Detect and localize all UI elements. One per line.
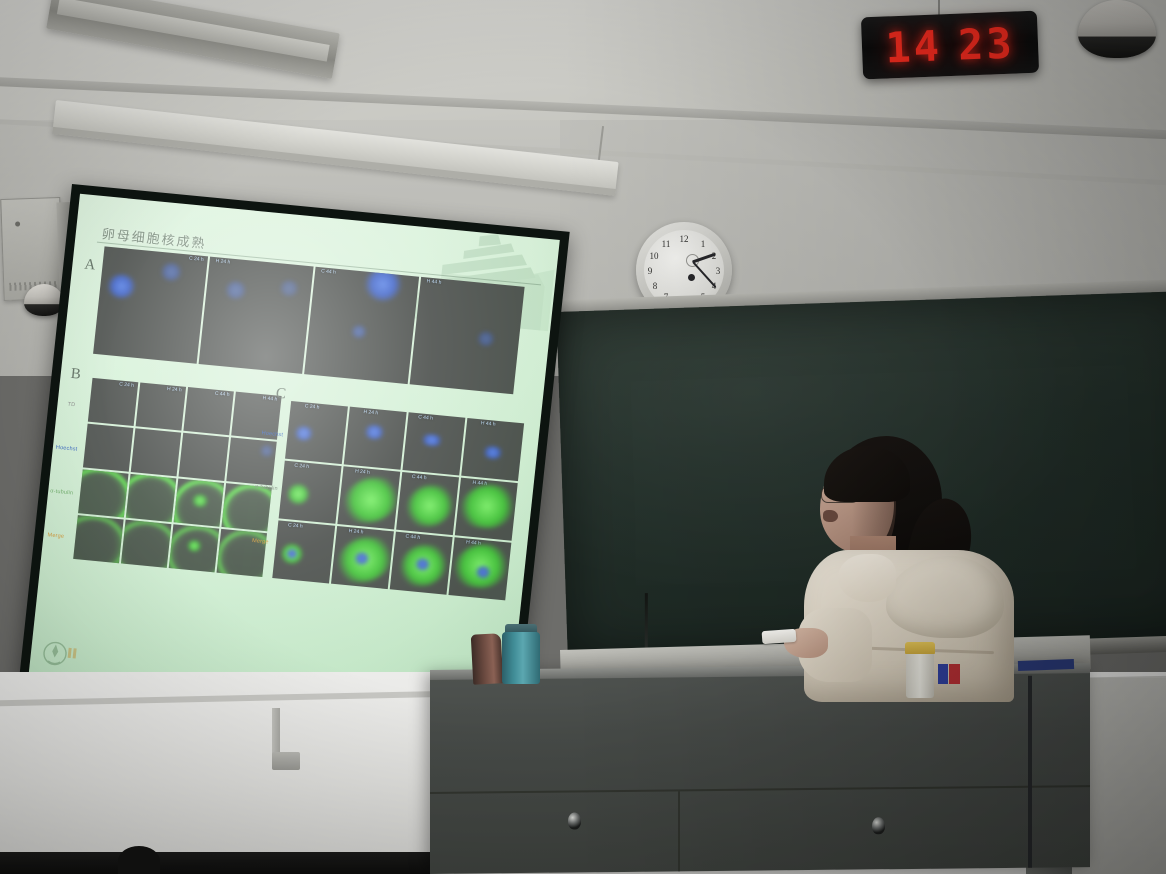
digital-clock-minutes: 23 xyxy=(957,18,1015,69)
spindle-dna-blob xyxy=(481,446,504,460)
spindle-blob xyxy=(286,483,310,505)
nucleus-blob xyxy=(224,280,248,300)
spindle-dna-blob xyxy=(293,425,314,441)
spindle-blob xyxy=(458,482,516,531)
mouth xyxy=(823,510,838,522)
micrograph-cell xyxy=(78,469,128,517)
podium-lock-icon[interactable] xyxy=(872,817,885,834)
micrograph-cell: H 24 h xyxy=(199,257,314,374)
panel-b-row-label: Merge xyxy=(47,532,64,540)
micrograph-cell: H 24 h xyxy=(344,407,407,470)
panel-a-grid: C 24 h H 24 h C 44 h H 44 h xyxy=(93,246,525,394)
micrograph-label: C 44 h xyxy=(411,474,426,481)
micrograph-cell xyxy=(174,479,224,527)
micrograph-label: C 24 h xyxy=(304,403,319,410)
micrograph-cell: C 24 h xyxy=(272,520,335,583)
micrograph-cell: H 44 h xyxy=(455,478,518,541)
micrograph-cell xyxy=(131,428,181,476)
oocyte-ring xyxy=(217,529,267,577)
pointer-stick[interactable] xyxy=(645,593,648,655)
panel-b-row-label: Hoechst xyxy=(56,445,78,453)
micrograph-cell: H 44 h xyxy=(410,277,525,394)
micrograph-label: H 44 h xyxy=(426,278,441,285)
red-marker[interactable] xyxy=(949,664,960,684)
micrograph-cell xyxy=(73,515,123,563)
wall-digital-clock: 14 23 xyxy=(861,11,1039,80)
presentation-clicker[interactable] xyxy=(762,629,797,644)
nucleus-blob xyxy=(350,324,367,338)
nucleus-blob xyxy=(259,444,274,457)
digital-clock-hours: 14 xyxy=(885,21,943,72)
micrograph-label: C 24 h xyxy=(294,463,309,470)
analog-numeral: 12 xyxy=(678,234,690,244)
lecture-hall-scene: 14 23 12 1 2 3 4 5 6 7 8 9 10 11 xyxy=(0,0,1166,874)
panel-b-row-label: α-tubulin xyxy=(50,488,74,496)
oocyte-ring xyxy=(78,469,128,517)
wall-bracket-foot xyxy=(272,752,300,770)
oocyte-ring xyxy=(73,515,123,563)
micrograph-cell: C 44 h xyxy=(390,532,453,595)
micrograph-label: H 44 h xyxy=(481,420,496,427)
micrograph-cell xyxy=(121,520,171,568)
floor-object xyxy=(118,846,160,874)
micrograph-label: H 24 h xyxy=(348,528,363,535)
nucleus-blob xyxy=(105,273,137,300)
panel-b-row-label: TD xyxy=(67,402,75,409)
wall-bracket xyxy=(272,708,280,758)
brown-thermos[interactable] xyxy=(471,633,504,685)
podium-horizontal-seam xyxy=(430,785,1090,794)
analog-numeral: 3 xyxy=(712,266,724,276)
nucleus-blob xyxy=(278,279,300,297)
nucleus-blob xyxy=(476,331,496,348)
podium-lock-icon[interactable] xyxy=(568,812,581,829)
micrograph-cell: C 24 h xyxy=(93,246,208,363)
micrograph-cell: C 44 h xyxy=(396,472,459,535)
oocyte-ring xyxy=(121,520,171,568)
analog-numeral: 1 xyxy=(697,239,709,249)
micrograph-cell: C 24 h xyxy=(88,378,138,426)
micrograph-label: C 24 h xyxy=(119,381,134,388)
university-logo-icon xyxy=(39,634,84,672)
micrograph-cell: C 44 h xyxy=(402,412,465,475)
panel-a-letter: A xyxy=(84,257,97,275)
analog-numeral: 9 xyxy=(644,266,656,276)
micrograph-label: H 24 h xyxy=(355,468,370,475)
podium-door-seam xyxy=(678,791,680,871)
spindle-blob xyxy=(342,475,400,526)
analog-numeral: 11 xyxy=(660,239,672,249)
podium-right-edge xyxy=(1028,676,1032,868)
oocyte-ring xyxy=(126,474,176,522)
micrograph-label: H 24 h xyxy=(363,409,378,416)
micrograph-label: C 44 h xyxy=(418,414,433,421)
panel-c-letter: C xyxy=(275,386,287,404)
spindle-dna-blob xyxy=(363,424,386,440)
floor-shadow xyxy=(0,852,430,874)
micrograph-label: C 24 h xyxy=(189,256,204,263)
wall-control-panel[interactable] xyxy=(0,197,64,301)
blue-marker[interactable] xyxy=(938,664,948,684)
analog-numeral: 10 xyxy=(648,251,660,261)
micrograph-cell xyxy=(126,474,176,522)
micrograph-cell: C 44 h xyxy=(304,267,419,384)
micrograph-cell: C 44 h xyxy=(183,387,233,435)
micrograph-cell xyxy=(179,433,229,481)
clock-center-pin xyxy=(688,274,695,281)
micrograph-label: C 44 h xyxy=(214,391,229,398)
micrograph-cell: C 24 h xyxy=(285,401,348,464)
panel-led-icon xyxy=(15,221,20,226)
micrograph-label: C 44 h xyxy=(405,534,420,541)
micrograph-cell: H 24 h xyxy=(331,526,394,589)
panel-c-grid: C 24 h H 24 h C 44 h H 44 h C 24 h xyxy=(272,401,524,600)
micrograph-cell: H 24 h xyxy=(337,466,400,529)
micrograph-cell xyxy=(83,424,133,472)
teal-water-bottle[interactable] xyxy=(502,632,540,684)
spindle-blob xyxy=(405,483,455,529)
micrograph-label: H 24 h xyxy=(167,386,182,393)
nucleus-blob xyxy=(362,267,403,303)
panel-b-letter: B xyxy=(70,366,82,384)
micrograph-cell: C 24 h xyxy=(279,461,342,524)
spindle-dna-blob xyxy=(419,434,444,447)
micrograph-label: C 24 h xyxy=(288,522,303,529)
clear-bottle-cap[interactable] xyxy=(905,642,935,654)
micrograph-label: H 24 h xyxy=(215,258,230,265)
micrograph-cell xyxy=(217,529,267,577)
jacket-collar xyxy=(838,554,896,602)
micrograph-cell: H 44 h xyxy=(461,418,524,481)
analog-numeral: 8 xyxy=(649,281,661,291)
nucleus-blob xyxy=(159,262,183,282)
micrograph-cell: H 24 h xyxy=(136,382,186,430)
micrograph-cell: H 44 h xyxy=(448,537,511,600)
clear-bottle[interactable] xyxy=(906,652,934,698)
micrograph-cell xyxy=(169,524,219,572)
micrograph-label: C 44 h xyxy=(321,268,336,275)
micrograph-cell xyxy=(226,437,276,485)
panel-b-grid: C 24 h H 24 h C 44 h H 44 h xyxy=(73,378,281,577)
